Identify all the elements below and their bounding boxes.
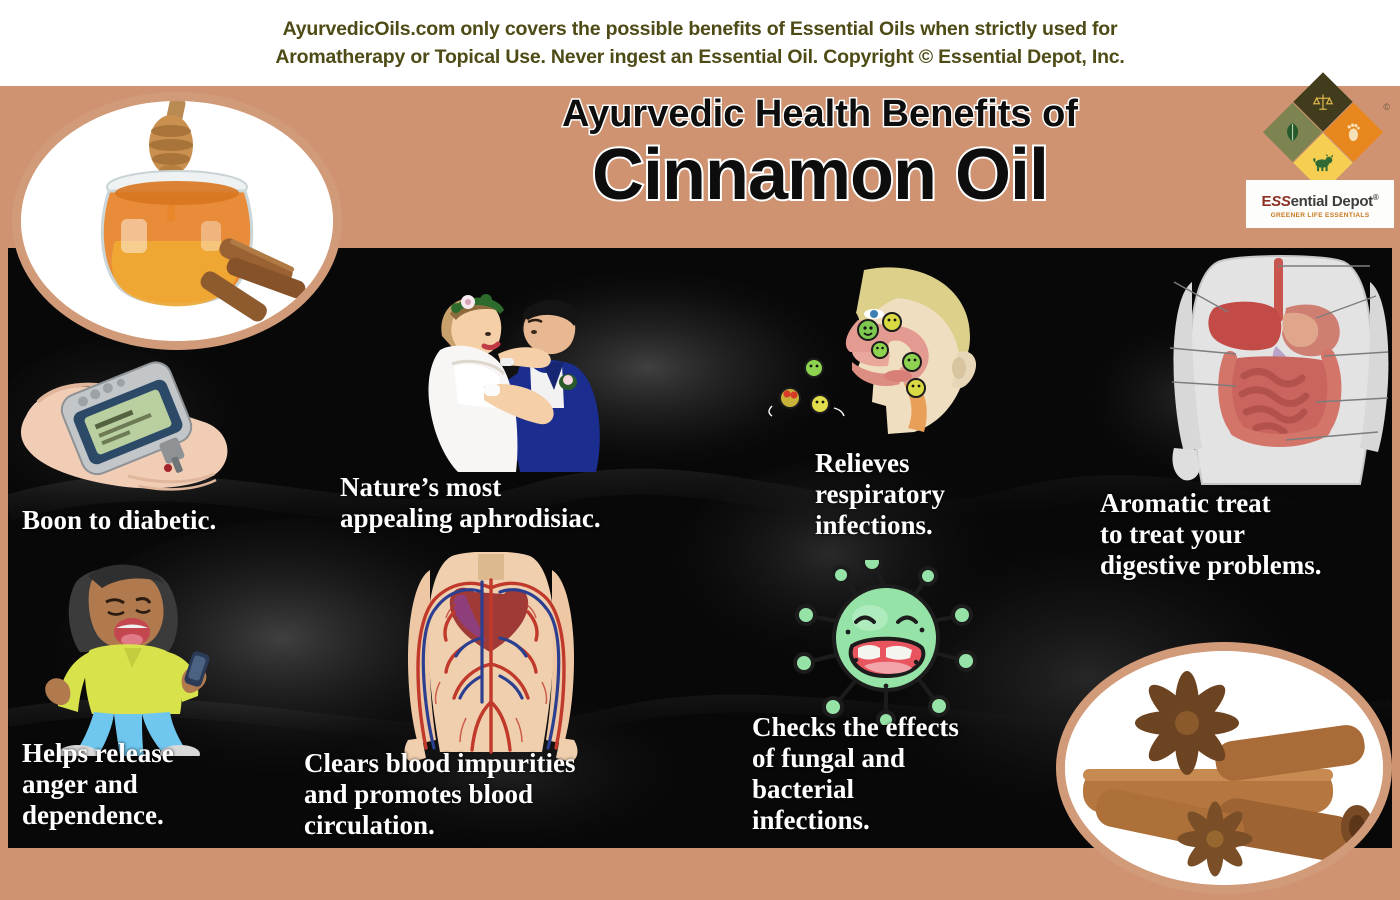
caption-respiratory: Relieves respiratory infections. bbox=[815, 448, 945, 541]
caption-digestive: Aromatic treat to treat your digestive p… bbox=[1100, 488, 1322, 581]
human-circulatory-system-icon bbox=[396, 552, 586, 767]
body bbox=[45, 644, 211, 714]
star-anise-bottom bbox=[1178, 802, 1253, 877]
airborne-germs bbox=[769, 359, 844, 416]
photo-cinnamon-sticks bbox=[1056, 642, 1392, 894]
cinnamon-illustration bbox=[1065, 651, 1383, 885]
logo-registered: ® bbox=[1373, 193, 1379, 202]
head bbox=[88, 565, 164, 649]
blood-drop bbox=[164, 464, 172, 472]
caption-fungal: Checks the effects of fungal and bacteri… bbox=[752, 712, 959, 836]
honey-jar-illustration bbox=[21, 101, 333, 341]
caption-aphrodisiac: Nature’s most appealing aphrodisiac. bbox=[340, 472, 601, 534]
logo-name-plate: ESSential Depot® GREENER LIFE ESSENTIALS bbox=[1246, 180, 1394, 228]
logo-brand-name: ESSential Depot® bbox=[1262, 190, 1379, 210]
caption-diabetic: Boon to diabetic. bbox=[22, 505, 216, 536]
page-title: Ayurvedic Health Benefits of Cinnamon Oi… bbox=[420, 92, 1220, 214]
copyright-mark: © bbox=[1383, 102, 1390, 112]
infographic-page: AyurvedicOils.com only covers the possib… bbox=[0, 0, 1400, 900]
title-main: Cinnamon Oil bbox=[420, 136, 1220, 214]
star-anise-top bbox=[1135, 671, 1239, 775]
essential-depot-logo[interactable]: © ESSential Depot® GREENER LIFE ESSENTIA… bbox=[1244, 88, 1396, 236]
caption-blood-circulation: Clears blood impurities and promotes blo… bbox=[304, 748, 576, 841]
logo-brand-e: E bbox=[1262, 193, 1272, 210]
green-germ-character-icon bbox=[786, 560, 986, 730]
human-digestive-system-icon bbox=[1166, 252, 1396, 497]
logo-diamond-grid bbox=[1262, 72, 1384, 194]
glucose-meter-in-hand-icon bbox=[8, 350, 258, 515]
romantic-couple-icon bbox=[372, 258, 622, 483]
head-profile bbox=[846, 267, 976, 434]
head-nasal-cross-section-with-germs-icon bbox=[768, 256, 1008, 451]
title-subtitle: Ayurvedic Health Benefits of bbox=[420, 92, 1220, 136]
logo-brand-rest: ential Depot bbox=[1291, 193, 1373, 210]
logo-brand-ss: SS bbox=[1271, 193, 1290, 210]
disclaimer-bar: AyurvedicOils.com only covers the possib… bbox=[0, 0, 1400, 86]
disclaimer-line-2: Aromatherapy or Topical Use. Never inges… bbox=[275, 43, 1124, 71]
angry-woman-shouting-icon bbox=[32, 556, 222, 761]
disclaimer-line-1: AyurvedicOils.com only covers the possib… bbox=[283, 15, 1118, 43]
logo-tagline: GREENER LIFE ESSENTIALS bbox=[1271, 212, 1370, 219]
caption-anger: Helps release anger and dependence. bbox=[22, 738, 174, 831]
photo-honey-jar bbox=[12, 92, 342, 350]
